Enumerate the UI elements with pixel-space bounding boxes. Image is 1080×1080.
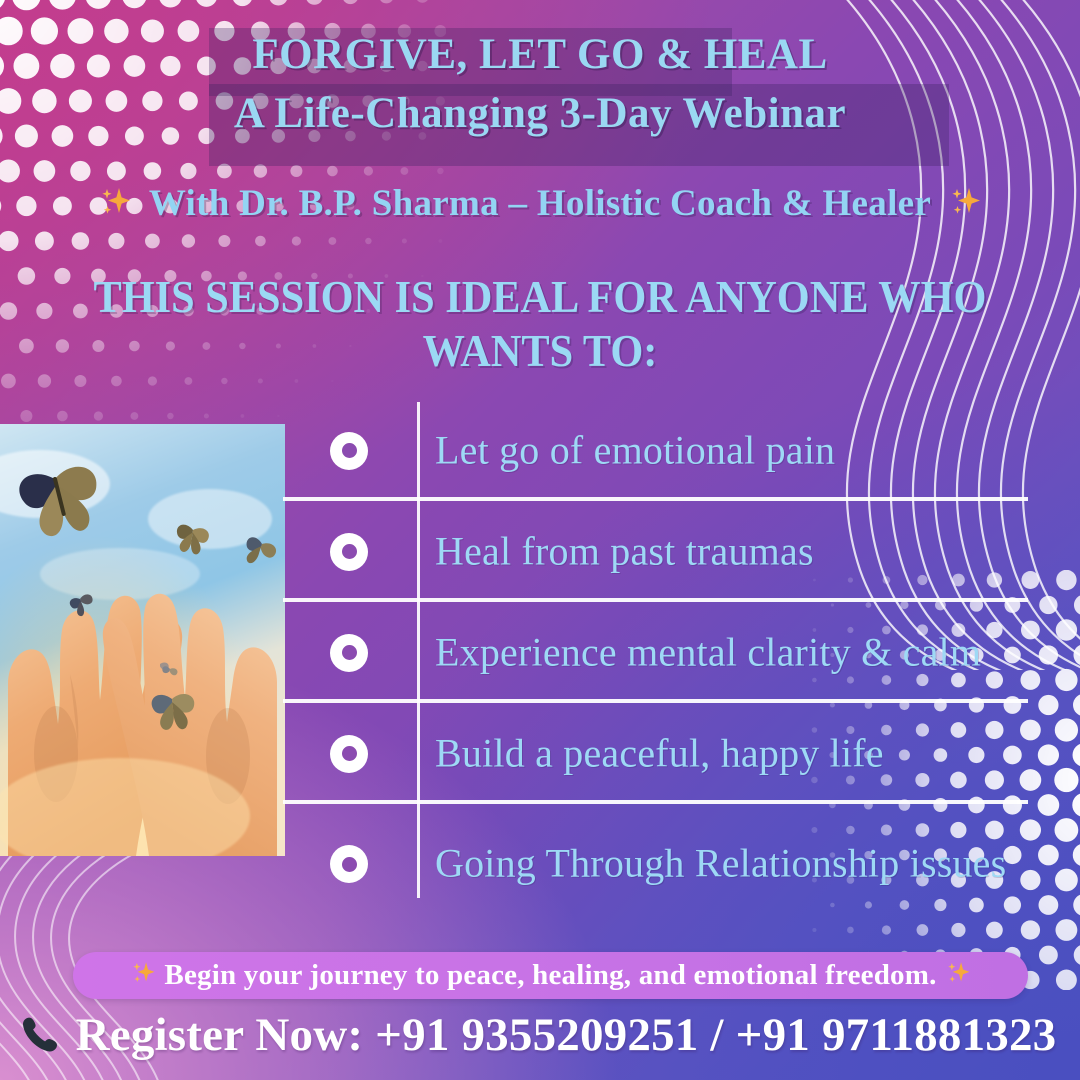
phone-icon: [18, 1013, 62, 1057]
bullet-ring-icon: [330, 845, 368, 883]
register-line[interactable]: Register Now: +91 9355209251 / +91 97118…: [0, 1008, 1080, 1062]
list-item-label: Let go of emotional pain: [435, 424, 1075, 477]
bullet-ring-icon: [330, 432, 368, 470]
list-item[interactable]: Build a peaceful, happy life: [283, 703, 1080, 804]
presenter-line: With Dr. B.P. Sharma – Holistic Coach & …: [0, 182, 1080, 229]
webinar-flyer: FORGIVE, LET GO & HEAL A Life-Changing 3…: [0, 0, 1080, 1080]
bullet-ring-icon: [330, 634, 368, 672]
title-line-1: FORGIVE, LET GO & HEAL: [0, 30, 1080, 81]
title-line-2: A Life-Changing 3-Day Webinar: [0, 89, 1080, 140]
hands-butterflies-photo: [0, 424, 285, 856]
section-heading: THIS SESSION IS IDEAL FOR ANYONE WHO WAN…: [80, 270, 1000, 379]
list-item[interactable]: Experience mental clarity & calm: [283, 602, 1080, 703]
sparkle-icon: [945, 960, 971, 991]
bullet-ring-icon: [330, 735, 368, 773]
list-item-label: Build a peaceful, happy life: [435, 727, 1075, 780]
list-item-label: Experience mental clarity & calm: [435, 626, 1075, 679]
sparkle-icon: [948, 185, 982, 229]
list-item[interactable]: Let go of emotional pain: [283, 400, 1080, 501]
register-text: Register Now: +91 9355209251 / +91 97118…: [76, 1008, 1057, 1062]
presenter-name: With Dr. B.P. Sharma – Holistic Coach & …: [149, 183, 931, 224]
bullet-ring-icon: [330, 533, 368, 571]
title-block: FORGIVE, LET GO & HEAL A Life-Changing 3…: [0, 30, 1080, 139]
list-item-label: Heal from past traumas: [435, 525, 1075, 578]
cta-banner-text: Begin your journey to peace, healing, an…: [164, 959, 936, 992]
list-item-label: Going Through Relationship issues: [435, 838, 1080, 891]
benefits-list: Let go of emotional pain Heal from past …: [283, 400, 1080, 940]
list-item[interactable]: Going Through Relationship issues: [283, 804, 1080, 924]
sparkle-icon: [98, 185, 132, 229]
sparkle-icon: [130, 960, 156, 991]
list-item[interactable]: Heal from past traumas: [283, 501, 1080, 602]
cta-banner: Begin your journey to peace, healing, an…: [73, 952, 1028, 999]
